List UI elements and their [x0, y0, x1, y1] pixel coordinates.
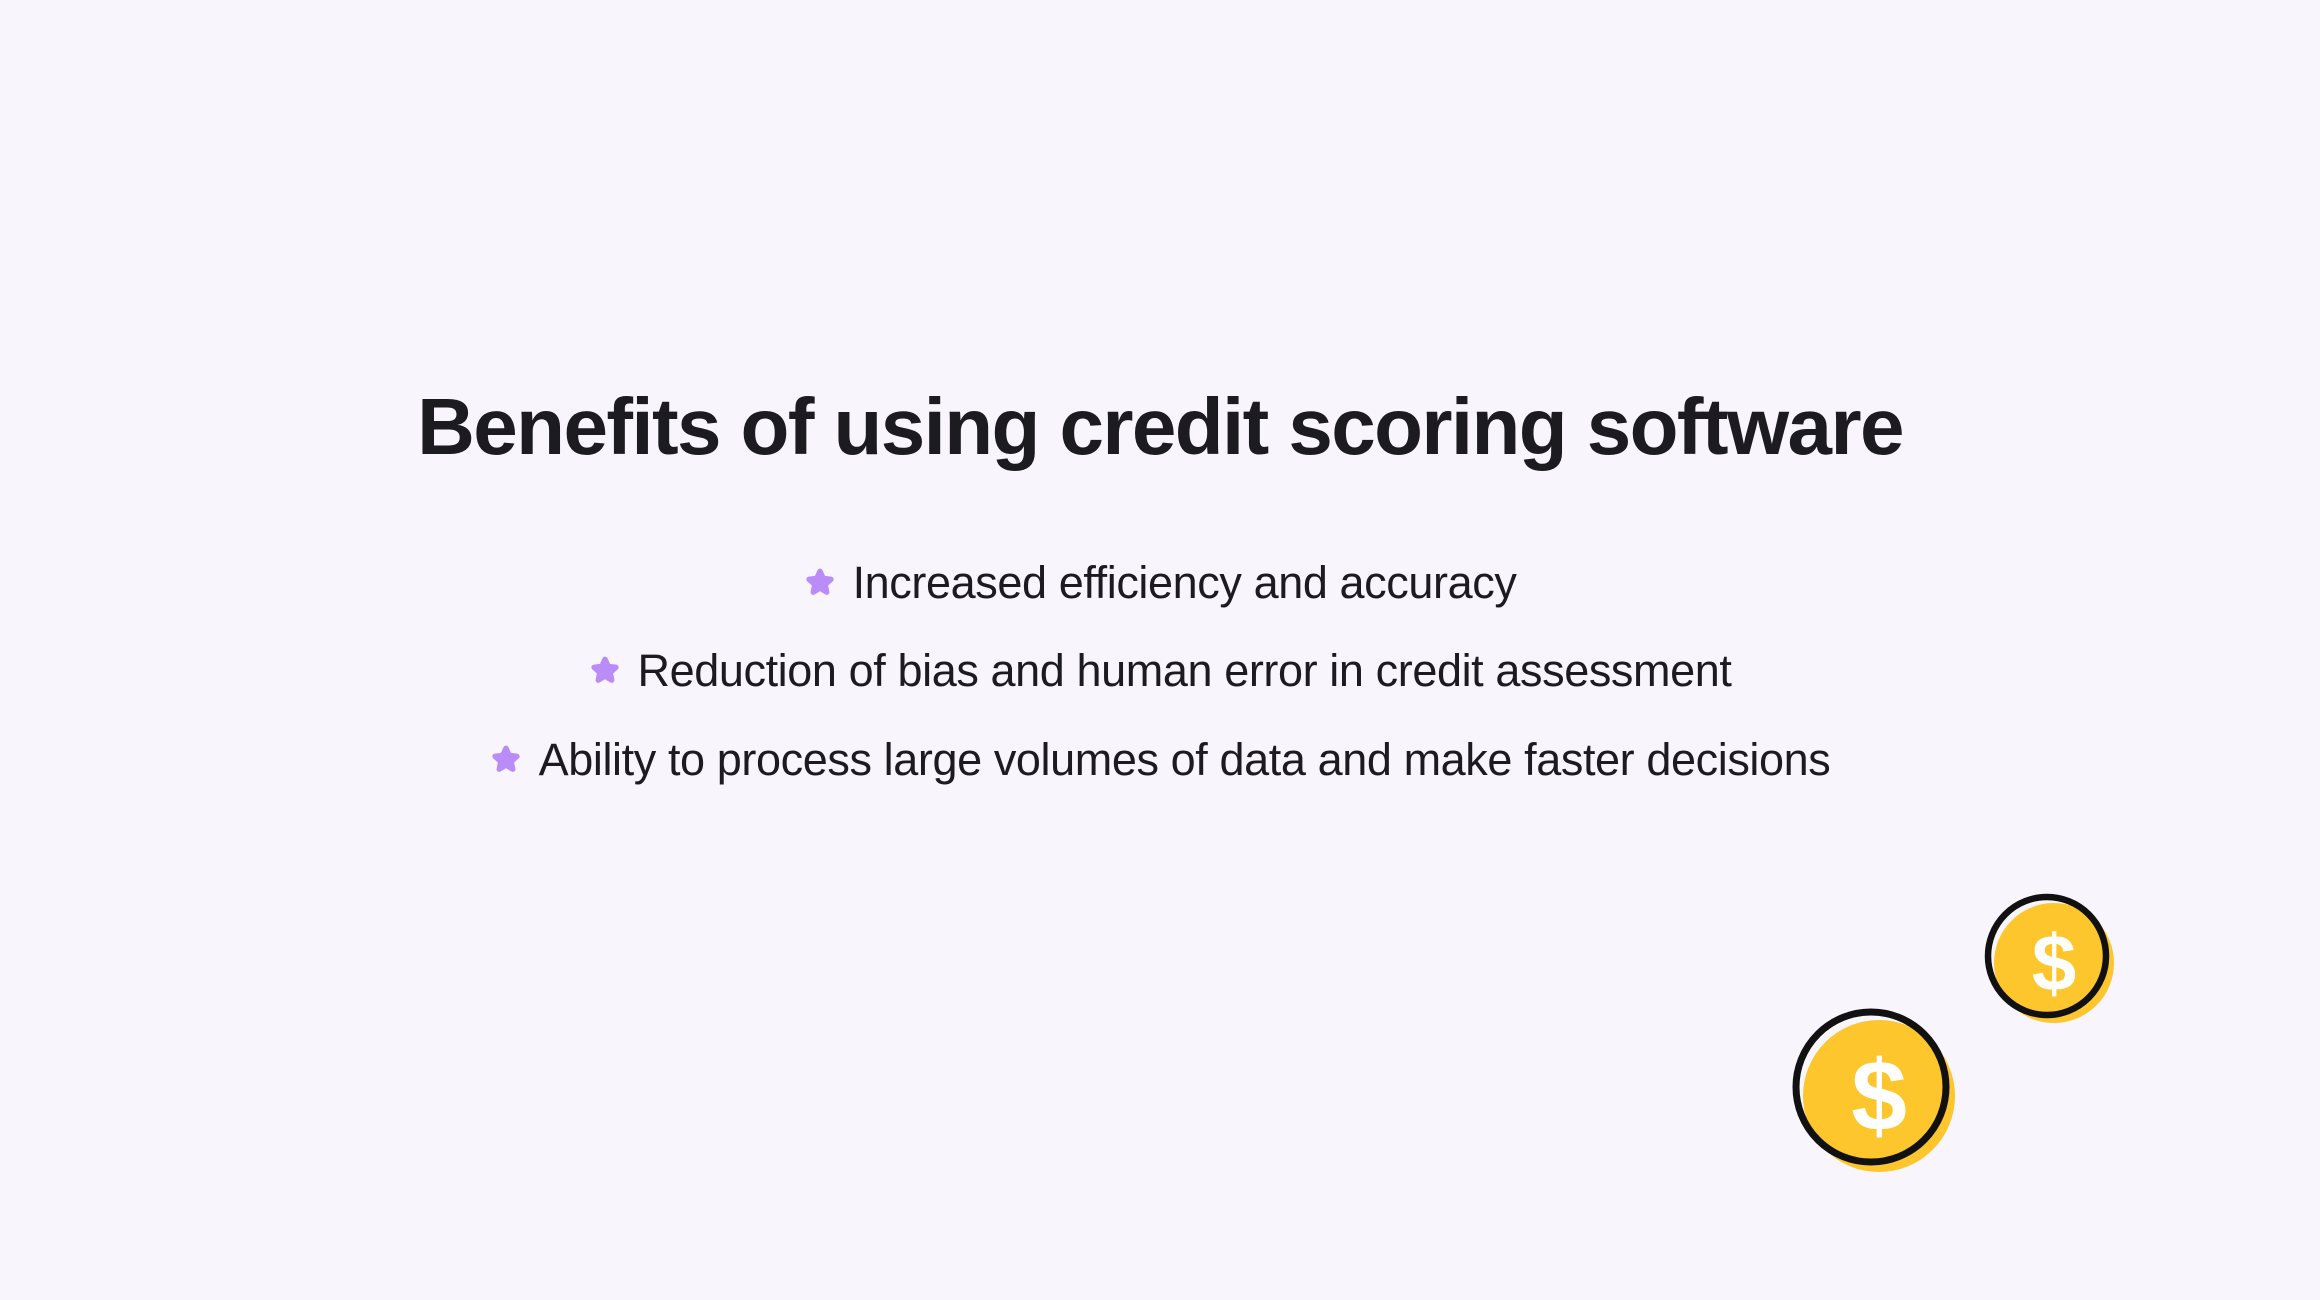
page-title: Benefits of using credit scoring softwar…: [160, 382, 2160, 472]
coin-large-icon: $: [1793, 1008, 1973, 1188]
star-icon: [490, 744, 522, 776]
benefits-list: Increased efficiency and accuracy Reduct…: [110, 555, 2210, 788]
coin-small-icon: $: [1985, 893, 2130, 1038]
list-item: Reduction of bias and human error in cre…: [589, 643, 1732, 699]
dollar-symbol: $: [1851, 1040, 1907, 1152]
slide-canvas: Benefits of using credit scoring softwar…: [0, 0, 2320, 1300]
list-item: Ability to process large volumes of data…: [490, 732, 1831, 788]
star-icon: [804, 567, 836, 599]
list-item-label: Reduction of bias and human error in cre…: [638, 643, 1732, 699]
dollar-symbol: $: [2032, 919, 2077, 1008]
list-item: Increased efficiency and accuracy: [804, 555, 1517, 611]
list-item-label: Ability to process large volumes of data…: [539, 732, 1831, 788]
star-icon: [589, 655, 621, 687]
list-item-label: Increased efficiency and accuracy: [853, 555, 1517, 611]
